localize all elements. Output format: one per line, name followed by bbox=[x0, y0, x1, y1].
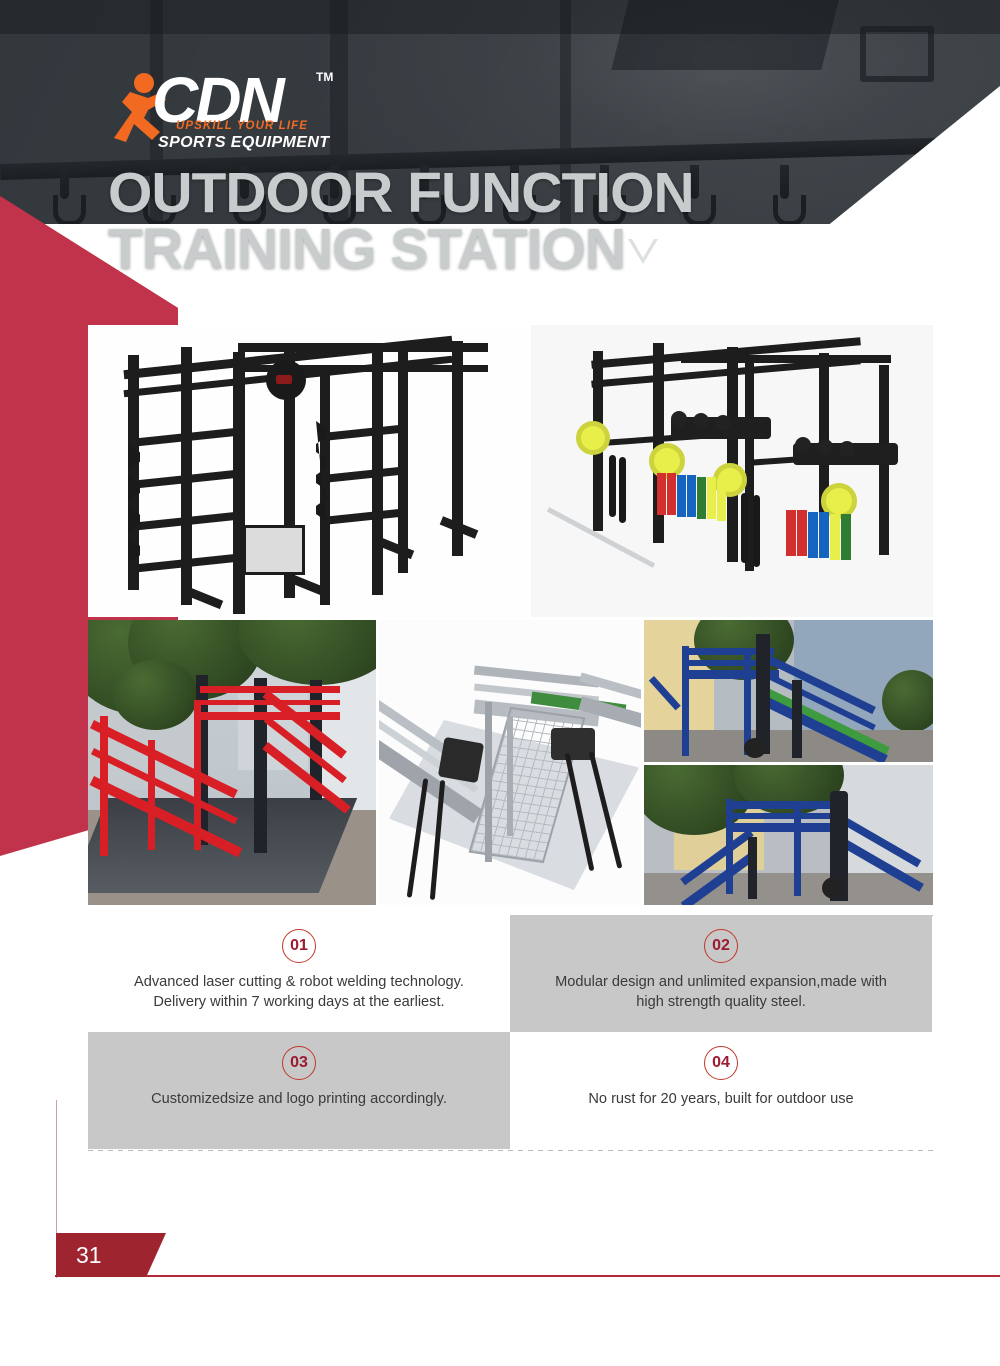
feature-card-03: 03 Customizedsize and logo printing acco… bbox=[88, 1032, 510, 1149]
page-number: 31 bbox=[76, 1242, 102, 1269]
logo-subtitle: SPORTS EQUIPMENT bbox=[158, 134, 329, 152]
brand-logo: CDN TM UPSKILL YOUR LIFE SPORTS EQUIPMEN… bbox=[104, 68, 354, 160]
feature-number-badge: 01 bbox=[282, 929, 316, 963]
feature-row-1: 01 Advanced laser cutting & robot weldin… bbox=[88, 915, 933, 1032]
feature-card-02: 02 Modular design and unlimited expansio… bbox=[510, 915, 932, 1032]
gallery-image-outdoor-red-station[interactable] bbox=[88, 620, 376, 905]
logo-tagline: UPSKILL YOUR LIFE bbox=[176, 120, 308, 132]
gallery-image-platform-render-white[interactable] bbox=[379, 620, 641, 905]
gym-hook bbox=[780, 165, 789, 199]
feature-text: Modular design and unlimited expansion,m… bbox=[510, 972, 932, 1012]
gallery-image-rig-render-black[interactable] bbox=[88, 325, 528, 617]
gym-hook bbox=[60, 165, 69, 199]
feature-divider-bottom bbox=[88, 1150, 933, 1151]
rig-color-illustration bbox=[531, 325, 933, 617]
feature-number-badge: 04 bbox=[704, 1046, 738, 1080]
page-title: OUTDOOR FUNCTION TRAINING STATION bbox=[108, 166, 694, 278]
gallery-image-outdoor-blue-station-1[interactable] bbox=[644, 620, 933, 762]
feature-number-badge: 02 bbox=[704, 929, 738, 963]
catalog-page: CDN TM UPSKILL YOUR LIFE SPORTS EQUIPMEN… bbox=[0, 0, 1000, 1366]
triangle-marker-icon bbox=[627, 238, 659, 264]
gym-wall-panel bbox=[860, 26, 934, 82]
gallery-row-bottom bbox=[88, 620, 933, 905]
gym-ceiling-beam bbox=[0, 0, 1000, 34]
feature-text: Customizedsize and logo printing accordi… bbox=[88, 1089, 510, 1109]
gym-frame bbox=[611, 0, 838, 70]
feature-number-badge: 03 bbox=[282, 1046, 316, 1080]
feature-row-2: 03 Customizedsize and logo printing acco… bbox=[88, 1032, 933, 1149]
page-number-badge: 31 bbox=[56, 1233, 166, 1277]
feature-text: No rust for 20 years, built for outdoor … bbox=[510, 1089, 932, 1109]
title-line-2: TRAINING STATION bbox=[108, 217, 625, 281]
footer-horizontal-rule bbox=[55, 1275, 1000, 1277]
gallery-image-outdoor-blue-station-2[interactable] bbox=[644, 765, 933, 905]
product-gallery bbox=[88, 325, 933, 905]
gallery-row-top bbox=[88, 325, 933, 617]
feature-card-01: 01 Advanced laser cutting & robot weldin… bbox=[88, 915, 510, 1032]
gallery-image-rig-render-color-plates[interactable] bbox=[531, 325, 933, 617]
title-line-1: OUTDOOR FUNCTION bbox=[108, 166, 694, 222]
title-line-2-wrap: TRAINING STATION bbox=[108, 222, 659, 278]
feature-card-04: 04 No rust for 20 years, built for outdo… bbox=[510, 1032, 932, 1149]
feature-text: Advanced laser cutting & robot welding t… bbox=[88, 972, 510, 1012]
logo-tm-mark: TM bbox=[316, 70, 333, 84]
rig-illustration bbox=[88, 325, 528, 617]
feature-highlights: 01 Advanced laser cutting & robot weldin… bbox=[88, 915, 933, 1149]
